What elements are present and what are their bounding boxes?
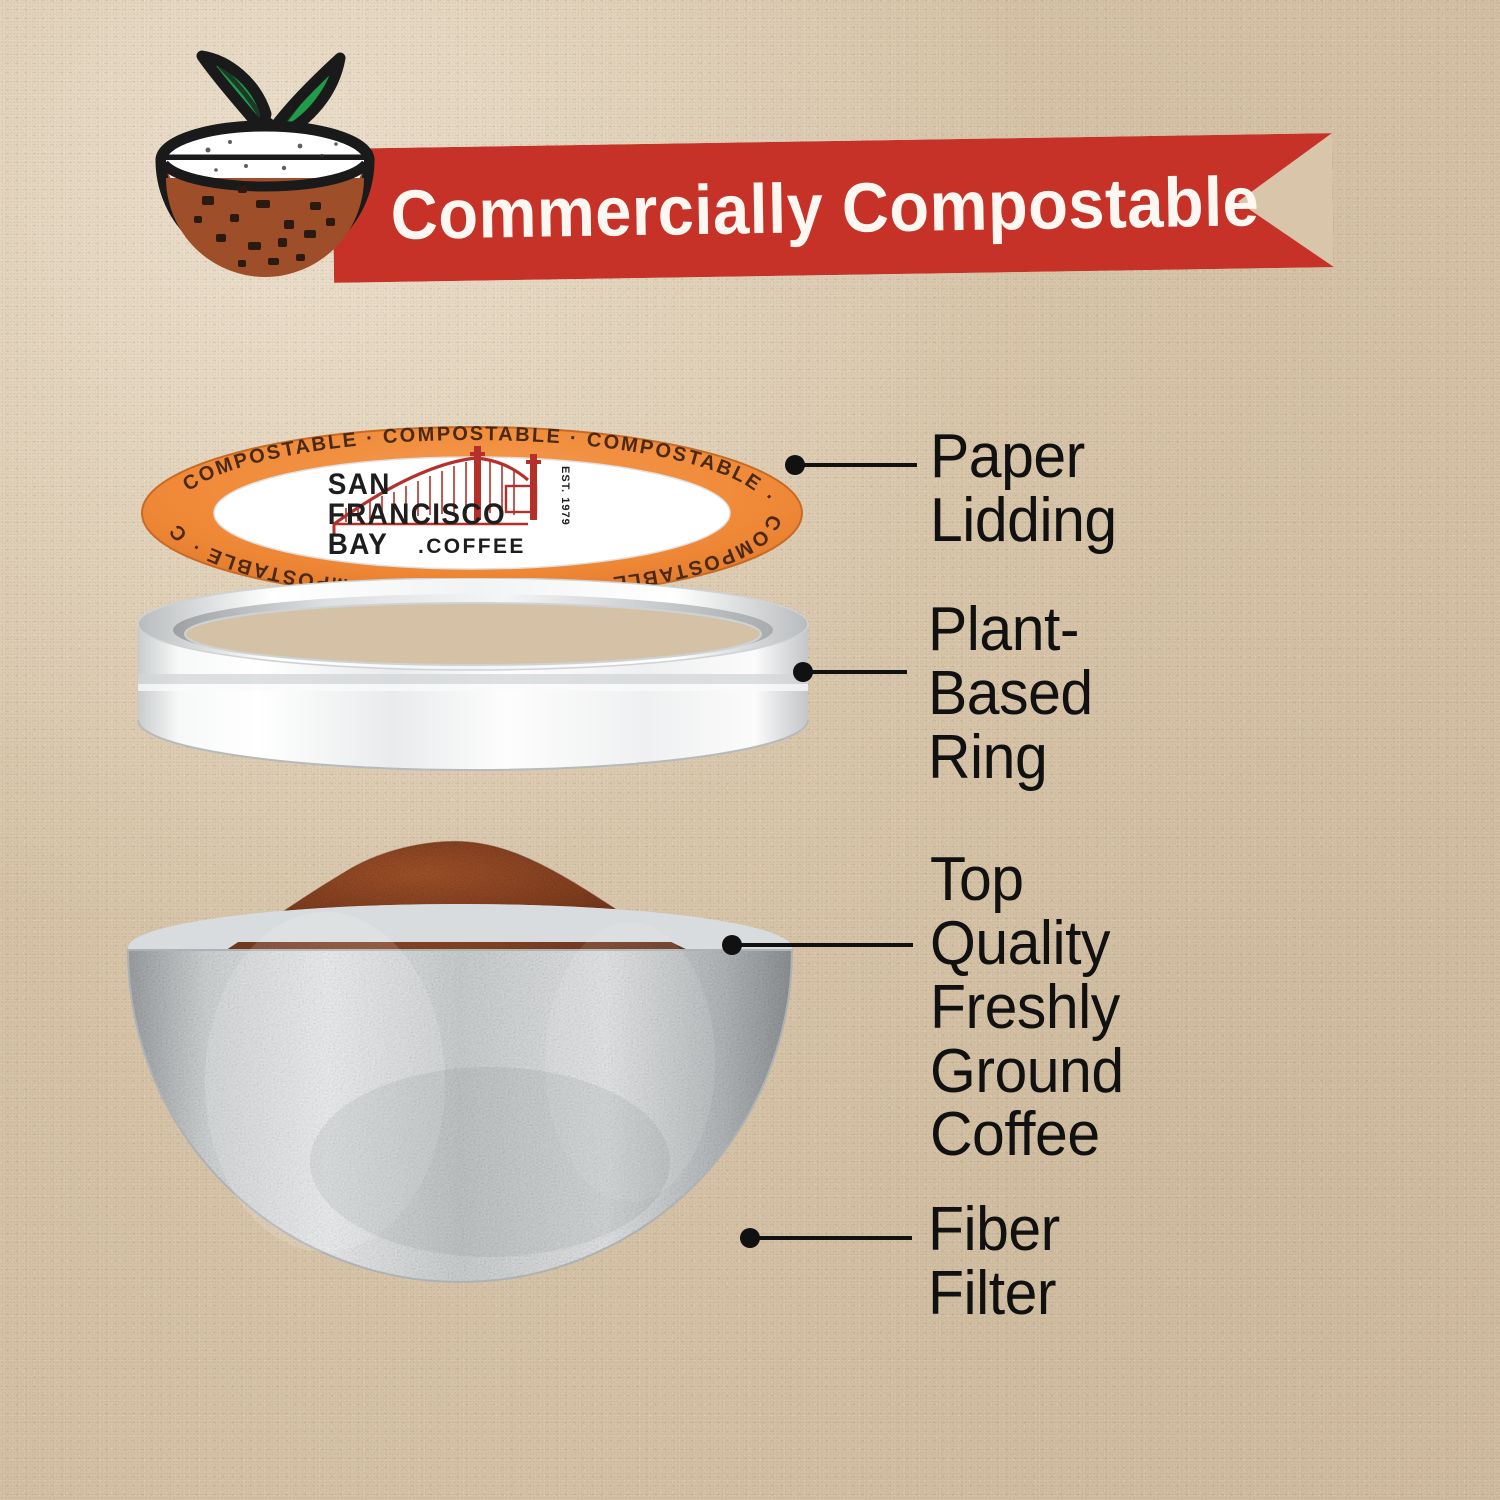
svg-text:.COFFEE: .COFFEE xyxy=(418,535,526,558)
svg-text:SAN: SAN xyxy=(328,468,391,501)
established-text: EST. 1979 xyxy=(559,466,571,526)
leader-line-plant-based-ring xyxy=(788,659,920,685)
leader-line-paper-lidding xyxy=(780,452,930,478)
svg-text:FRANCISCO: FRANCISCO xyxy=(328,498,506,531)
coconut-sprout-icon xyxy=(150,38,380,300)
leader-line-fiber-filter xyxy=(735,1225,925,1251)
lid-graphic: COMPOSTABLE · COMPOSTABLE · COMPOSTABLE … xyxy=(138,424,806,602)
leader-line-ground-coffee xyxy=(717,932,927,958)
infographic-canvas: Commercially Compostable xyxy=(0,0,1500,1500)
compostable-banner: Commercially Compostable xyxy=(332,133,1334,283)
filter-and-grounds xyxy=(110,832,810,1312)
plant-based-ring-component xyxy=(128,578,818,790)
callout-label-plant-based-ring: Plant-Based Ring xyxy=(928,598,1093,790)
callout-label-fiber-filter: Fiber Filter xyxy=(928,1198,1060,1326)
paper-lidding-component: COMPOSTABLE · COMPOSTABLE · COMPOSTABLE … xyxy=(138,424,806,602)
fiber-filter xyxy=(128,912,792,1282)
svg-text:BAY: BAY xyxy=(328,528,389,561)
banner-title: Commercially Compostable xyxy=(415,135,1235,282)
callout-label-paper-lidding: Paper Lidding xyxy=(930,425,1117,553)
callout-label-ground-coffee: Top Quality Freshly Ground Coffee xyxy=(930,848,1124,1167)
